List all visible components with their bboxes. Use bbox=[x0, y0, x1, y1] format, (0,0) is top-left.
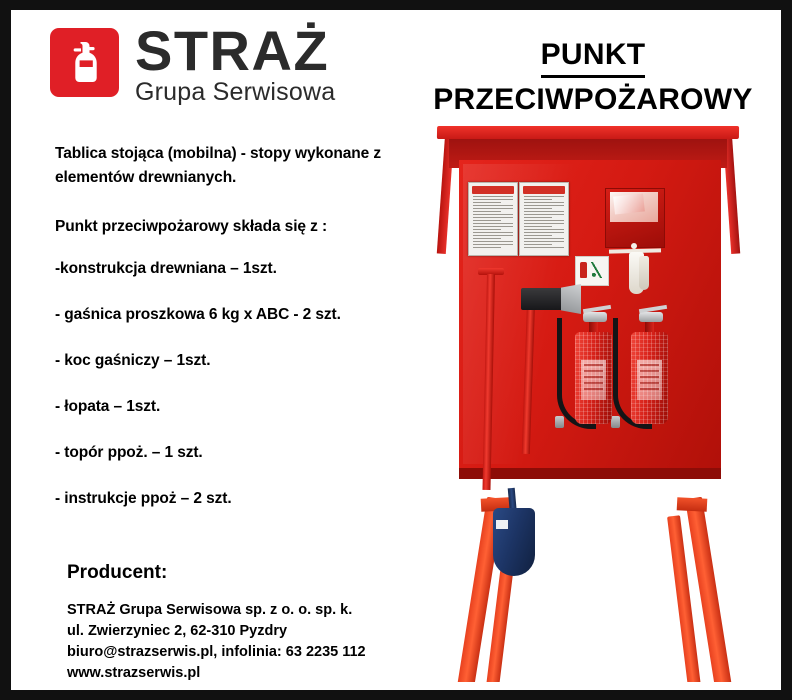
a-frame-brace-right bbox=[677, 497, 708, 512]
sign-extinguisher-icon bbox=[580, 262, 587, 278]
instruction-placard-left bbox=[468, 182, 518, 256]
list-item: - topór ppoż. – 1 szt. bbox=[55, 444, 435, 490]
producer-website: www.strazserwis.pl bbox=[67, 663, 447, 684]
producer-block: Producent: STRAŻ Grupa Serwisowa sp. z o… bbox=[67, 562, 447, 684]
extinguisher-valve-right bbox=[639, 312, 663, 322]
list-item: - łopata – 1szt. bbox=[55, 398, 435, 444]
extinguisher-valve-left bbox=[583, 312, 607, 322]
shovel-tag bbox=[496, 520, 508, 529]
list-item: - koc gaśniczy – 1szt. bbox=[55, 352, 435, 398]
fire-axe-blade bbox=[561, 284, 581, 314]
producer-company: STRAŻ Grupa Serwisowa sp. z o. o. sp. k. bbox=[67, 600, 447, 621]
blanket-cabinet-window bbox=[610, 192, 658, 222]
board-bottom-lip bbox=[459, 468, 721, 479]
extinguisher-label-left bbox=[581, 360, 606, 400]
product-photo bbox=[423, 116, 781, 682]
poster: STRAŻ Grupa Serwisowa PUNKT PRZECIWPOŻAR… bbox=[0, 0, 792, 700]
list-item: -konstrukcja drewniana – 1szt. bbox=[55, 260, 435, 306]
list-item: - gaśnica proszkowa 6 kg x ABC - 2 szt. bbox=[55, 306, 435, 352]
brand-subtitle: Grupa Serwisowa bbox=[135, 79, 335, 105]
intro-text: Tablica stojąca (mobilna) - stopy wykona… bbox=[55, 142, 435, 190]
extinguisher-nozzle-right bbox=[611, 416, 620, 428]
list-lead-in: Punkt przeciwpożarowy składa się z : bbox=[55, 218, 435, 236]
canopy-roof bbox=[437, 126, 739, 139]
producer-contact: biuro@strazserwis.pl, infolinia: 63 2235… bbox=[67, 642, 447, 663]
page-title: PUNKT PRZECIWPOŻAROWY bbox=[417, 36, 769, 123]
page-title-line-1: PUNKT bbox=[541, 36, 646, 78]
extinguisher-nozzle-left bbox=[555, 416, 564, 428]
extinguisher-label-right bbox=[637, 360, 662, 400]
poster-sheet: STRAŻ Grupa Serwisowa PUNKT PRZECIWPOŻAR… bbox=[11, 10, 781, 690]
sign-flame-icon bbox=[590, 262, 603, 278]
brand-name: STRAŻ bbox=[135, 24, 335, 78]
fire-blanket-cloth-fold bbox=[639, 256, 649, 290]
instruction-placard-right bbox=[519, 182, 569, 256]
shovel-blade bbox=[493, 508, 535, 576]
producer-address: ul. Zwierzyniec 2, 62-310 Pyzdry bbox=[67, 621, 447, 642]
producer-heading: Producent: bbox=[67, 562, 447, 584]
list-item: - instrukcje ppoż – 2 szt. bbox=[55, 490, 435, 536]
contents-list: -konstrukcja drewniana – 1szt. - gaśnica… bbox=[55, 260, 435, 536]
description-column: Tablica stojąca (mobilna) - stopy wykona… bbox=[55, 142, 435, 536]
fire-extinguisher-icon bbox=[50, 28, 119, 97]
brand-wordmark: STRAŻ Grupa Serwisowa bbox=[135, 24, 335, 105]
brand-lockup: STRAŻ Grupa Serwisowa bbox=[50, 28, 335, 105]
